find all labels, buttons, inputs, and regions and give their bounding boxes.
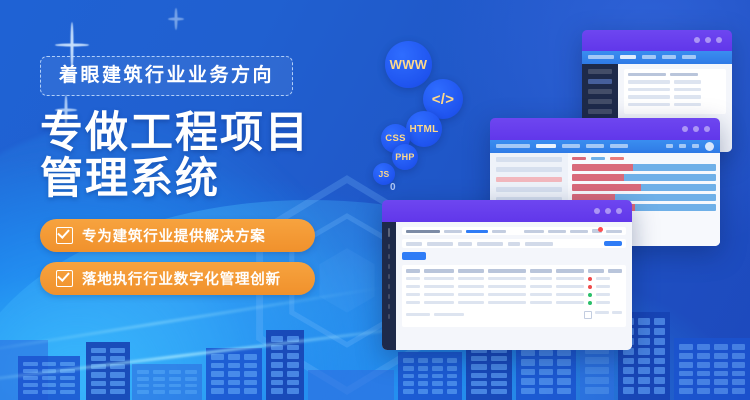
window-dot — [704, 126, 710, 132]
sidebar-item[interactable] — [388, 264, 390, 269]
sidebar-item[interactable] — [388, 274, 390, 279]
sidebar-item[interactable] — [588, 99, 612, 104]
sidebar-item[interactable] — [388, 254, 390, 259]
app-logo — [388, 228, 390, 237]
status-dot-red — [588, 285, 592, 289]
feature-pill-list: 专为建筑行业提供解决方案 落地执行行业数字化管理创新 — [40, 219, 370, 295]
app-top-nav — [490, 140, 720, 153]
status-dot-green — [588, 301, 592, 305]
list-item[interactable] — [496, 167, 562, 172]
browser-chrome-bar — [582, 30, 732, 51]
table-row[interactable] — [406, 277, 622, 281]
table-header-row — [406, 269, 622, 273]
sidebar-item[interactable] — [388, 304, 390, 309]
page-title: 专做工程项目 管理系统 — [40, 110, 370, 203]
subtitle-box: 着眼建筑行业业务方向 — [40, 56, 293, 96]
browser-chrome-bar — [382, 200, 632, 222]
sidebar-item[interactable] — [388, 244, 390, 249]
feature-pill-1[interactable]: 专为建筑行业提供解决方案 — [40, 219, 315, 252]
sidebar-item[interactable] — [588, 69, 612, 74]
data-table — [402, 265, 626, 327]
table-row[interactable] — [628, 103, 722, 107]
bubble-zero-label: 0 — [390, 182, 396, 193]
list-item[interactable] — [496, 157, 562, 162]
chart-bar-row — [572, 184, 716, 191]
table-row[interactable] — [628, 80, 722, 84]
table-row[interactable] — [628, 95, 722, 99]
app-screenshot-front — [382, 200, 632, 350]
sidebar-item-active[interactable] — [588, 79, 612, 84]
checkbox-check-icon — [56, 270, 73, 287]
list-item[interactable] — [496, 187, 562, 192]
table-row[interactable] — [406, 285, 622, 289]
sidebar-item[interactable] — [388, 314, 390, 319]
window-dot — [694, 37, 700, 43]
app-sidebar — [382, 222, 396, 350]
list-item-active[interactable] — [496, 177, 562, 182]
table-row[interactable] — [628, 88, 722, 92]
sidebar-item[interactable] — [588, 109, 612, 114]
add-button[interactable] — [402, 252, 426, 260]
tech-bubble-cluster: WWW </> HTML CSS PHP JS 0 — [370, 30, 500, 210]
search-button[interactable] — [604, 241, 622, 246]
window-dot — [716, 37, 722, 43]
banner-copy: 着眼建筑行业业务方向 专做工程项目 管理系统 专为建筑行业提供解决方案 落地执行… — [40, 56, 370, 305]
table-row[interactable] — [406, 293, 622, 297]
subtitle-text: 着眼建筑行业业务方向 — [59, 66, 274, 85]
data-table — [624, 69, 726, 115]
chart-bar-row — [572, 164, 716, 171]
window-dot — [705, 37, 711, 43]
bubble-www-icon: WWW — [385, 41, 432, 88]
status-dot-red — [588, 277, 592, 281]
checkbox-check-icon — [56, 227, 73, 244]
table-row[interactable] — [406, 301, 622, 305]
feature-pill-label: 落地执行行业数字化管理创新 — [82, 268, 281, 289]
filter-bar[interactable] — [402, 239, 626, 248]
chart-bar-row — [572, 174, 716, 181]
sidebar-item[interactable] — [388, 284, 390, 289]
app-header-bar — [402, 227, 626, 235]
table-header-row — [628, 73, 722, 77]
chart-legend — [572, 157, 716, 160]
feature-pill-label: 专为建筑行业提供解决方案 — [82, 225, 266, 246]
headline-line-1: 专做工程项目 — [40, 110, 370, 156]
sparkle-icon — [168, 8, 184, 30]
window-dot — [594, 208, 600, 214]
browser-chrome-bar — [490, 118, 720, 140]
table-pagination[interactable] — [406, 311, 622, 319]
window-dot — [616, 208, 622, 214]
sidebar-item[interactable] — [388, 294, 390, 299]
promo-banner: 着眼建筑行业业务方向 专做工程项目 管理系统 专为建筑行业提供解决方案 落地执行… — [0, 0, 750, 400]
window-dot — [682, 126, 688, 132]
bubble-html-icon: HTML — [406, 111, 442, 147]
notification-badge — [598, 227, 603, 232]
app-main-pane — [396, 222, 632, 350]
app-top-nav — [582, 51, 732, 64]
sidebar-item[interactable] — [588, 89, 612, 94]
status-dot-green — [588, 293, 592, 297]
bubble-php-icon: PHP — [392, 144, 418, 170]
headline-line-2: 管理系统 — [40, 156, 370, 202]
feature-pill-2[interactable]: 落地执行行业数字化管理创新 — [40, 262, 315, 295]
window-dot — [693, 126, 699, 132]
window-dot — [605, 208, 611, 214]
